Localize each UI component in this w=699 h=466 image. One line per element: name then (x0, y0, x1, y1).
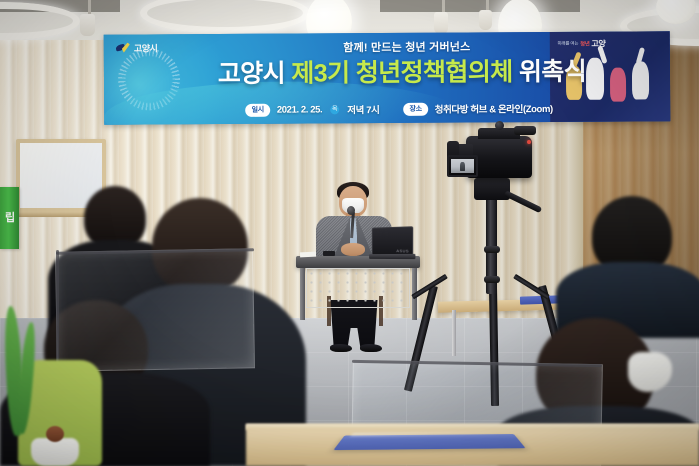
date-text: 2021. 2. 25. (277, 104, 322, 115)
laptop-base (369, 254, 415, 259)
camera-viewfinder (514, 126, 536, 135)
pendant-shade-3 (479, 10, 492, 30)
date-day-badge: 목 (330, 105, 339, 114)
pendant-shade-1 (80, 14, 95, 36)
banner-title-part-4: 위촉식 (519, 58, 586, 86)
speaker-hands (341, 243, 365, 256)
desk-papers (300, 252, 316, 258)
banner-title: 고양시 제3기 청년정책협의체 위촉식 (104, 51, 670, 90)
microphone-head-icon (347, 206, 355, 215)
tripod-lock-knob-2 (484, 276, 500, 283)
speaker-shoe-left (330, 344, 352, 352)
place-pill-label: 장소 (403, 102, 427, 115)
laptop-screen: ASUS (372, 226, 413, 257)
date-time-text: 저녁 7시 (347, 102, 379, 116)
event-banner: 고양시 미래를 여는 청년 고양 함께! 만드는 청년 거버넌스 고양시 제3기… (104, 31, 671, 124)
acrylic-frame-left-side (56, 250, 59, 370)
banner-title-part-1: 고양시 (218, 60, 292, 88)
desk-phone (323, 251, 335, 256)
laptop-brand-label: ASUS (396, 248, 409, 253)
decor-vase-ornament (46, 426, 64, 442)
speaker-shoe-right (360, 344, 382, 352)
desk-leg-left (300, 268, 305, 320)
banner-title-part-3: 청년정책협의체 (356, 58, 519, 87)
banner-title-part-2: 제3기 (291, 59, 356, 87)
place-text: 청취다방 허브 & 온라인(Zoom) (435, 101, 553, 116)
desk-perforated-panel (306, 268, 410, 308)
date-pill-label: 일시 (246, 103, 270, 116)
pendant-shade-2 (434, 12, 448, 34)
green-standing-sign: 립 (0, 187, 19, 249)
green-sign-text: 립 (0, 209, 19, 225)
foreground-table-edge (246, 424, 699, 430)
camera-microphone-icon (495, 121, 504, 130)
tripod-fluid-head (474, 178, 510, 200)
lcd-preview-image (451, 159, 474, 173)
lcd-preview-subject (460, 162, 465, 171)
acrylic-divider-left (55, 248, 255, 371)
decor-vase (31, 438, 79, 466)
camera-record-indicator (527, 140, 531, 144)
side-table-leg-left (452, 310, 456, 356)
event-photograph: 고양시 미래를 여는 청년 고양 함께! 만드는 청년 거버넌스 고양시 제3기… (0, 0, 699, 466)
tripod-lock-knob-1 (484, 246, 500, 253)
camera-lcd-screen[interactable] (447, 155, 478, 177)
